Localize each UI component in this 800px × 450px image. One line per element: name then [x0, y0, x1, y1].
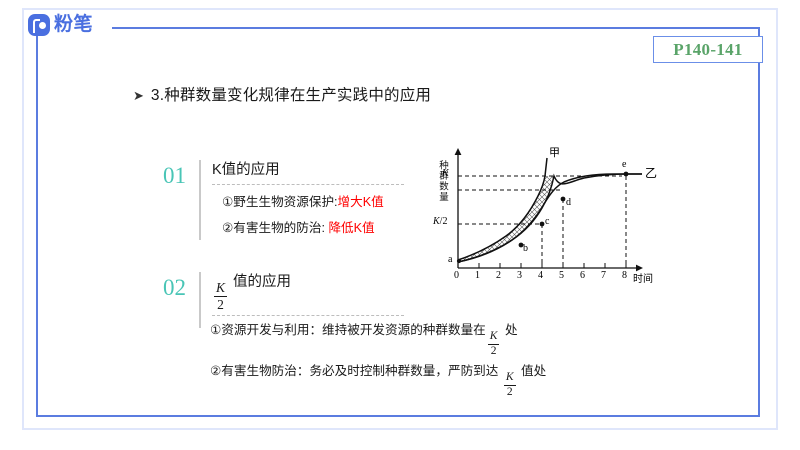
chart-point-d [561, 197, 566, 202]
bullet-arrow-icon: ➤ [133, 89, 144, 102]
section-01-item-2: ②有害生物的防治: 降低K值 [222, 220, 423, 237]
section-02-item-2-fraction-numerator: K [504, 372, 516, 384]
section-01-item-1: ①野生生物资源保护:增大K值 [222, 194, 423, 211]
section-01-divider [199, 160, 201, 240]
section-02-item-1-fraction: K2 [488, 331, 500, 357]
page-title: ➤ 3.种群数量变化规律在生产实践中的应用 [133, 83, 431, 105]
section-02-title: K 2 值的应用 [212, 272, 404, 316]
fb-logo-icon [28, 14, 50, 36]
chart-y-axis-arrow-icon [455, 148, 462, 155]
section-02-item-1-fraction-numerator: K [488, 331, 500, 343]
section-01-number: 01 [163, 160, 199, 187]
frame-bottom-rule [36, 415, 760, 417]
section-02-title-fraction: K 2 [214, 281, 227, 311]
section-02-item-1-fraction-denominator: 2 [489, 346, 499, 358]
section-02-item-2-after: 值处 [521, 364, 546, 378]
section-02-title-fraction-numerator: K [214, 281, 227, 295]
section-01-body: K值的应用 ①野生生物资源保护:增大K值 ②有害生物的防治: 降低K值 [212, 160, 423, 237]
frame-left-rule [36, 36, 38, 417]
chart-point-a [457, 259, 461, 263]
section-02-item-1: ①资源开发与利用：维持被开发资源的种群数量在K2 处 [210, 322, 730, 357]
section-02-divider [199, 272, 201, 328]
section-02-item-2: ②有害生物防治：务必及时控制种群数量，严防到达 K2 值处 [210, 363, 730, 398]
brand-logo: 粉笔 [28, 14, 93, 36]
section-02-title-fraction-denominator: 2 [215, 298, 226, 312]
section-01-title: K值的应用 [212, 160, 404, 185]
section-02-title-suffix: 值的应用 [233, 274, 291, 290]
page-reference-label: P140-141 [673, 40, 742, 60]
frame-right-rule [758, 27, 760, 417]
section-01: 01 K值的应用 ①野生生物资源保护:增大K值 ②有害生物的防治: 降低K值 [163, 160, 423, 240]
section-01-item-2-highlight: 降低K值 [328, 221, 374, 235]
section-01-item-2-prefix: ②有害生物的防治: [222, 221, 325, 235]
brand-logo-text: 粉笔 [54, 14, 93, 36]
slide-canvas: 粉笔 P140-141 ➤ 3.种群数量变化规律在生产实践中的应用 01 K值的… [0, 0, 800, 450]
page-reference-badge: P140-141 [653, 36, 763, 63]
frame-top-rule [112, 27, 760, 29]
section-02-item-1-before: ①资源开发与利用：维持被开发资源的种群数量在 [210, 323, 486, 337]
section-01-item-1-highlight: 增大K值 [338, 195, 384, 209]
chart-x-axis-arrow-icon [636, 265, 643, 272]
section-02-item-2-fraction: K2 [504, 372, 516, 398]
page-title-text: 3.种群数量变化规律在生产实践中的应用 [151, 83, 431, 105]
section-02-number: 02 [163, 272, 199, 299]
chart-shaded-region [458, 176, 554, 262]
population-growth-chart [432, 142, 680, 290]
chart-point-c [540, 222, 545, 227]
section-02-item-1-after: 处 [505, 323, 518, 337]
chart-point-b [519, 243, 524, 248]
section-02-item-2-before: ②有害生物防治：务必及时控制种群数量，严防到达 [210, 364, 498, 378]
chart-point-e [624, 172, 629, 177]
section-02-item-2-fraction-denominator: 2 [505, 387, 515, 399]
section-01-item-1-prefix: ①野生生物资源保护: [222, 195, 338, 209]
